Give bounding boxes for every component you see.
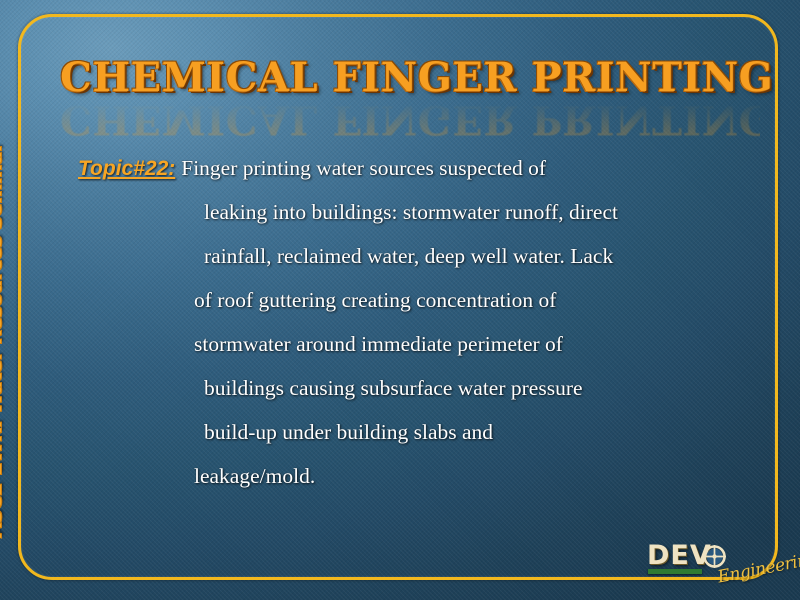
slide-title: CHEMICAL FINGER PRINTING <box>60 58 760 98</box>
body-line: rainfall, reclaimed water, deep well wat… <box>78 246 738 290</box>
logo-green-bar <box>648 569 702 574</box>
body-line-text: rainfall, reclaimed water, deep well wat… <box>204 244 613 268</box>
body-line-text: Finger printing water sources suspected … <box>181 156 546 180</box>
logo-script-text: Engineering <box>716 548 800 587</box>
body-line-text: build-up under building slabs and <box>204 420 493 444</box>
compass-crosshair-icon <box>702 544 727 569</box>
body-line-text: leakage/mold. <box>194 464 315 488</box>
slide-title-reflection: CHEMICAL FINGER PRINTING <box>60 99 760 139</box>
body-line-text: buildings causing subsurface water press… <box>204 376 583 400</box>
seminar-name-text: ASCE-EWRI Water Resources Seminar <box>0 143 6 538</box>
body-line: leaking into buildings: stormwater runof… <box>78 202 738 246</box>
body-line: buildings causing subsurface water press… <box>78 378 738 422</box>
presentation-slide: CHEMICAL FINGER PRINTING CHEMICAL FINGER… <box>0 0 800 600</box>
topic-label: Topic#22: <box>78 157 175 180</box>
body-line: stormwater around immediate perimeter of <box>78 334 738 378</box>
body-line-text: of roof guttering creating concentration… <box>194 288 556 312</box>
body-line: of roof guttering creating concentration… <box>78 290 738 334</box>
slide-title-area: CHEMICAL FINGER PRINTING CHEMICAL FINGER… <box>60 58 760 139</box>
body-line-text: stormwater around immediate perimeter of <box>194 332 563 356</box>
body-line-text: leaking into buildings: stormwater runof… <box>204 200 618 224</box>
slide-body-text: Topic#22:Finger printing water sources s… <box>78 158 738 510</box>
devo-engineering-logo[interactable]: DEV Engineering <box>645 538 795 590</box>
left-vertical-banner: ASCE-EWRI Water Resources Seminar <box>0 143 4 538</box>
body-line: leakage/mold. <box>78 466 738 510</box>
body-line: build-up under building slabs and <box>78 422 738 466</box>
body-line: Topic#22:Finger printing water sources s… <box>78 158 738 202</box>
